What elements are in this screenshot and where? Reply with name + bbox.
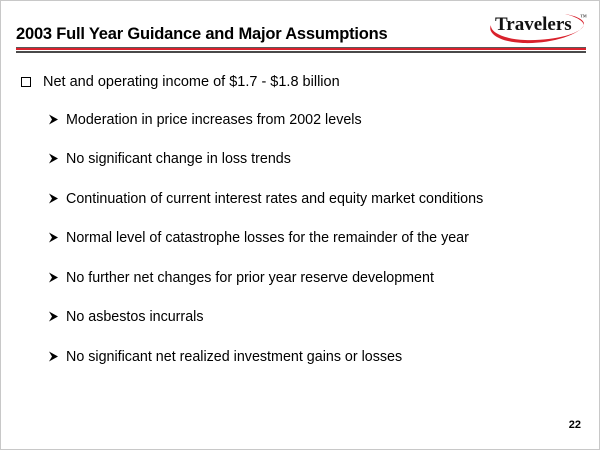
primary-bullet-label: Net and operating income of $1.7 - $1.8 … (43, 73, 581, 93)
travelers-logo: Travelers ™ (485, 7, 589, 47)
logo-wordmark: Travelers (495, 14, 572, 35)
list-item-label: Moderation in price increases from 2002 … (66, 111, 586, 130)
arrowhead-bullet-icon (48, 193, 66, 204)
arrowhead-bullet-icon (48, 153, 66, 164)
primary-bullet: Net and operating income of $1.7 - $1.8 … (1, 73, 600, 93)
list-item-label: Normal level of catastrophe losses for t… (66, 229, 586, 248)
arrowhead-bullet-icon (48, 272, 66, 283)
list-item-label: No significant net realized investment g… (66, 348, 586, 367)
logo-trademark-icon: ™ (580, 13, 587, 21)
list-item-label: Continuation of current interest rates a… (66, 190, 586, 209)
list-item: No significant net realized investment g… (1, 348, 600, 367)
list-item: Continuation of current interest rates a… (1, 190, 600, 209)
list-item: No significant change in loss trends (1, 150, 600, 169)
sub-bullet-list: Moderation in price increases from 2002 … (1, 111, 600, 367)
list-item-label: No significant change in loss trends (66, 150, 586, 169)
hollow-square-bullet-icon (21, 73, 43, 92)
presentation-slide: 2003 Full Year Guidance and Major Assump… (0, 0, 600, 450)
list-item-label: No asbestos incurrals (66, 308, 586, 327)
page-title: 2003 Full Year Guidance and Major Assump… (16, 25, 388, 44)
slide-body: Net and operating income of $1.7 - $1.8 … (1, 73, 600, 388)
arrowhead-bullet-icon (48, 311, 66, 322)
arrowhead-bullet-icon (48, 114, 66, 125)
page-number: 22 (569, 419, 581, 431)
list-item: Normal level of catastrophe losses for t… (1, 229, 600, 248)
list-item: Moderation in price increases from 2002 … (1, 111, 600, 130)
slide-header: 2003 Full Year Guidance and Major Assump… (1, 1, 600, 59)
list-item: No further net changes for prior year re… (1, 269, 600, 288)
list-item: No asbestos incurrals (1, 308, 600, 327)
list-item-label: No further net changes for prior year re… (66, 269, 586, 288)
divider-line-bottom (16, 51, 586, 53)
header-divider (16, 47, 586, 55)
arrowhead-bullet-icon (48, 351, 66, 362)
arrowhead-bullet-icon (48, 232, 66, 243)
